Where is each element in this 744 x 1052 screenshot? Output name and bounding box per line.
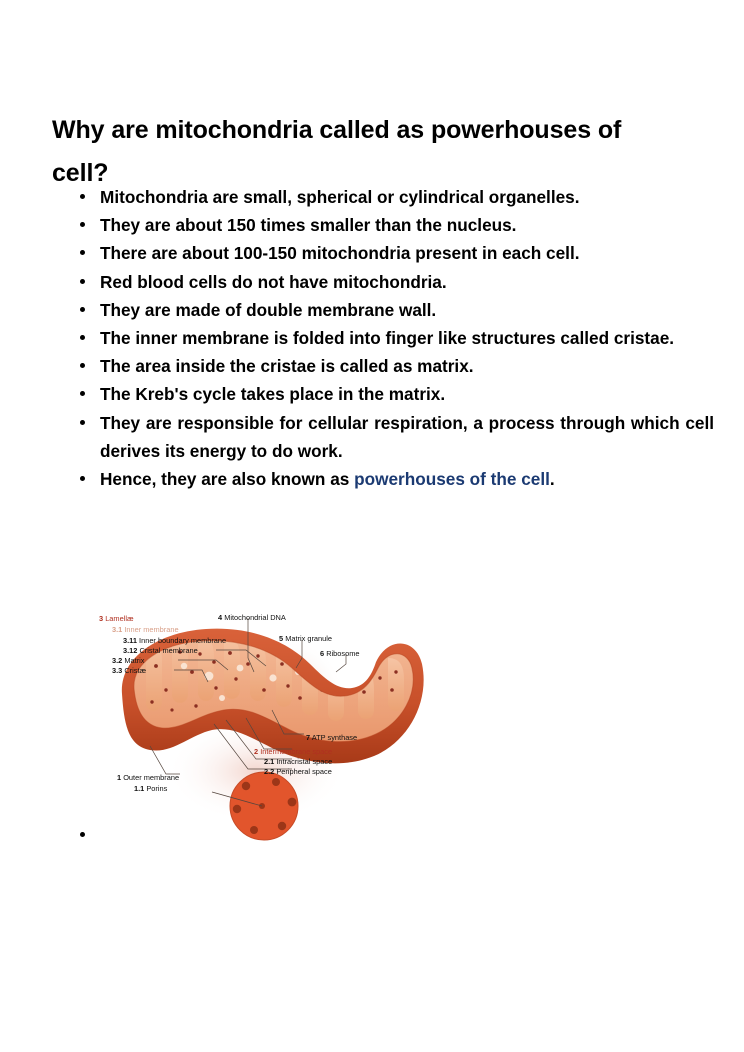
diagram-label-text: Peripheral space [276, 767, 331, 776]
diagram-label-text: Matrix granule [285, 634, 332, 643]
list-item-label: Mitochondria are small, spherical or cyl… [100, 183, 714, 211]
document-page: Why are mitochondria called as powerhous… [0, 0, 744, 1052]
diagram-label-text: Cristal membrane [139, 646, 197, 655]
diagram-label-2: 2 Intermembrane space [254, 747, 332, 757]
diagram-label-number: 3.1 [112, 625, 122, 634]
list-item-label: They are about 150 times smaller than th… [100, 211, 714, 239]
list-item: The area inside the cristae is called as… [74, 352, 714, 380]
diagram-label-text: Mitochondrial DNA [224, 613, 286, 622]
diagram-label-number: 3.2 [112, 656, 122, 665]
diagram-label-1: 1 Outer membrane [117, 773, 179, 783]
highlighted-phrase: powerhouses of the cell [354, 469, 550, 489]
crista [388, 658, 404, 711]
list-item: The Kreb's cycle takes place in the matr… [74, 380, 714, 408]
diagram-label-3-2: 3.2 Matrix [112, 656, 144, 666]
list-item: Hence, they are also known as powerhouse… [74, 465, 714, 493]
diagram-label-number: 2.1 [264, 757, 274, 766]
bullet-dot-icon [80, 335, 85, 340]
list-item-label: The area inside the cristae is called as… [100, 352, 714, 380]
diagram-label-number: 5 [279, 634, 283, 643]
diagram-label-number: 2 [254, 747, 258, 756]
bullet-dot-icon [80, 250, 85, 255]
bullet-dot-icon [80, 222, 85, 227]
bullet-dot-icon [80, 194, 85, 199]
diagram-label-number: 3 [99, 614, 103, 623]
diagram-label-number: 3.12 [123, 646, 137, 655]
diagram-label-3: 3 Lamellæ [99, 614, 134, 624]
list-item-label: The Kreb's cycle takes place in the matr… [100, 380, 714, 408]
bullet-dot-icon [80, 476, 85, 481]
diagram-label-text: Intracristal space [276, 757, 332, 766]
diagram-label-number: 1 [117, 773, 121, 782]
diagram-label-number: 3.3 [112, 666, 122, 675]
diagram-label-number: 4 [218, 613, 222, 622]
bullet-dot-icon [80, 279, 85, 284]
matrix-granule [205, 672, 214, 681]
diagram-label-2-2: 2.2 Peripheral space [264, 767, 332, 777]
bullet-dot-icon [80, 420, 85, 425]
diagram-label-5: 5 Matrix granule [279, 634, 332, 644]
diagram-label-number: 3.11 [123, 636, 137, 645]
list-item: There are about 100-150 mitochondria pre… [74, 239, 714, 267]
list-item: Mitochondria are small, spherical or cyl… [74, 183, 714, 211]
matrix-granule [269, 674, 276, 681]
list-item-label: Red blood cells do not have mitochondria… [100, 268, 714, 296]
diagram-label-text: Intermembrane space [260, 747, 332, 756]
diagram-label-1-1: 1.1 Porins [134, 784, 167, 794]
bullet-list: Mitochondria are small, spherical or cyl… [74, 183, 714, 493]
diagram-label-text: Lamellæ [105, 614, 133, 623]
diagram-label-2-1: 2.1 Intracristal space [264, 757, 332, 767]
list-item-label: The inner membrane is folded into finger… [100, 324, 714, 352]
diagram-label-number: 6 [320, 649, 324, 658]
list-item: They are responsible for cellular respir… [74, 409, 714, 465]
diagram-label-text: Matrix [124, 656, 144, 665]
matrix-granule [219, 695, 225, 701]
matrix-granule [181, 663, 187, 669]
diagram-label-3-1: 3.1 Inner membrane [112, 625, 179, 635]
diagram-label-number: 7 [306, 733, 310, 742]
diagram-label-text: ATP synthase [312, 733, 357, 742]
matrix-granule [364, 657, 372, 665]
list-item-label: They are made of double membrane wall. [100, 296, 714, 324]
diagram-label-4: 4 Mitochondrial DNA [218, 613, 286, 623]
diagram-label-number: 2.2 [264, 767, 274, 776]
bullet-dot-icon [80, 832, 85, 837]
diagram-label-3-12: 3.12 Cristal membrane [123, 646, 198, 656]
page-title: Why are mitochondria called as powerhous… [52, 109, 672, 195]
list-item-label: There are about 100-150 mitochondria pre… [100, 239, 714, 267]
matrix-granule [237, 665, 244, 672]
diagram-label-7: 7 ATP synthase [306, 733, 357, 743]
diagram-label-text: Porins [146, 784, 167, 793]
diagram-label-text: Cristæ [124, 666, 146, 675]
diagram-label-text: Ribosome [326, 649, 359, 658]
diagram-label-text: Outer membrane [123, 773, 179, 782]
bullet-dot-icon [80, 363, 85, 368]
list-item: They are made of double membrane wall. [74, 296, 714, 324]
diagram-label-3-3: 3.3 Cristæ [112, 666, 146, 676]
bullet-dot-icon [80, 307, 85, 312]
diagram-label-text: Inner membrane [124, 625, 178, 634]
list-item: Red blood cells do not have mitochondria… [74, 268, 714, 296]
list-item: The inner membrane is folded into finger… [74, 324, 714, 352]
list-item-label: They are responsible for cellular respir… [100, 409, 714, 465]
list-item: They are about 150 times smaller than th… [74, 211, 714, 239]
diagram-label-text: Inner boundary membrane [139, 636, 226, 645]
diagram-label-6: 6 Ribosome [320, 649, 359, 659]
diagram-label-number: 1.1 [134, 784, 144, 793]
bullet-dot-icon [80, 391, 85, 396]
mitochondrion-diagram: 3 Lamellæ3.1 Inner membrane3.11 Inner bo… [96, 606, 426, 841]
list-item-label: Hence, they are also known as powerhouse… [100, 465, 714, 493]
diagram-label-3-11: 3.11 Inner boundary membrane [123, 636, 226, 646]
